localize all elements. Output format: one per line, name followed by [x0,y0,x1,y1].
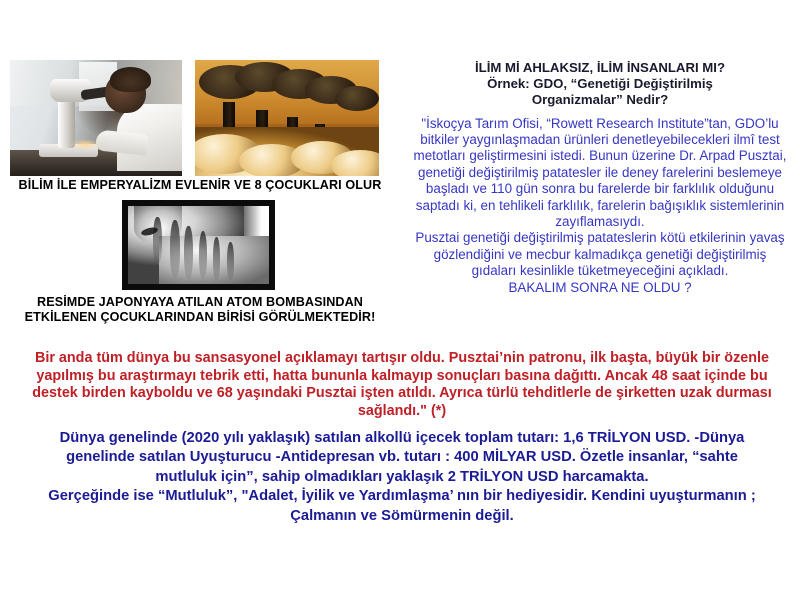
dark-smoke-plume [335,86,379,112]
burn-scar-streak [199,231,207,279]
page-title: İLİM Mİ AHLAKSIZ, İLİM İNSANLARI MI? Örn… [408,60,792,109]
caption-atom-bomb-line-2: ETKİLENEN ÇOCUKLARINDAN BİRİSİ GÖRÜLMEKT… [0,310,400,325]
top-photo-row [0,55,400,175]
headline-line-1: İLİM Mİ AHLAKSIZ, İLİM İNSANLARI MI? [416,60,784,76]
caption-atom-bomb: RESİMDE JAPONYAYA ATILAN ATOM BOMBASINDA… [0,295,400,325]
pusztai-aftermath-red-text: Bir anda tüm dünya bu sansasyonel açıkla… [22,350,782,420]
atom-bomb-victim-photo [122,200,275,290]
navy-paragraph-2: Gerçeğinde ise “Mutluluk”, "Adalet, İyil… [33,486,770,525]
navy-paragraph-1: Dünya genelinde (2020 yılı yaklaşık) sat… [33,428,770,486]
burn-scar-streak [213,237,220,281]
atom-bomb-victim-image-area [128,206,269,284]
gmo-body-paragraph-2: Pusztai genetiği değiştirilmiş patatesle… [410,230,790,279]
bright-smoke-cloud [331,150,379,176]
gmo-body-paragraph-1: "İskoçya Tarım Ofisi, “Rowett Research I… [410,116,790,231]
caption-atom-bomb-line-1: RESİMDE JAPONYAYA ATILAN ATOM BOMBASINDA… [0,295,400,310]
burn-scar-streak [153,217,161,264]
scientist-microscope-photo [10,60,182,176]
headline-line-2: Örnek: GDO, “Genetiği Değiştirilmiş [416,76,784,92]
statistics-navy-text: Dünya genelinde (2020 yılı yaklaşık) sat… [33,428,770,525]
headline-line-3: Organizmalar” Nedir? [416,92,784,108]
burn-scar-streak [227,242,234,281]
left-media-column: BİLİM İLE EMPERYALİZM EVLENİR VE 8 ÇOCUK… [0,55,400,175]
caption-science-imperialism: BİLİM İLE EMPERYALİZM EVLENİR VE 8 ÇOCUK… [0,178,400,192]
burn-scar-streak [184,226,192,279]
right-text-column: İLİM Mİ AHLAKSIZ, İLİM İNSANLARI MI? Örn… [408,60,792,296]
gmo-body-question: BAKALIM SONRA NE OLDU ? [410,280,790,296]
scientist-hair-shape [110,67,151,93]
gmo-body-text: "İskoçya Tarım Ofisi, “Rowett Research I… [408,116,792,296]
microscope-light-glow [70,139,101,151]
smokestacks-pollution-photo [195,60,379,176]
red-paragraph: Bir anda tüm dünya bu sansasyonel açıkla… [22,350,782,420]
burn-scar-streak [170,220,180,278]
